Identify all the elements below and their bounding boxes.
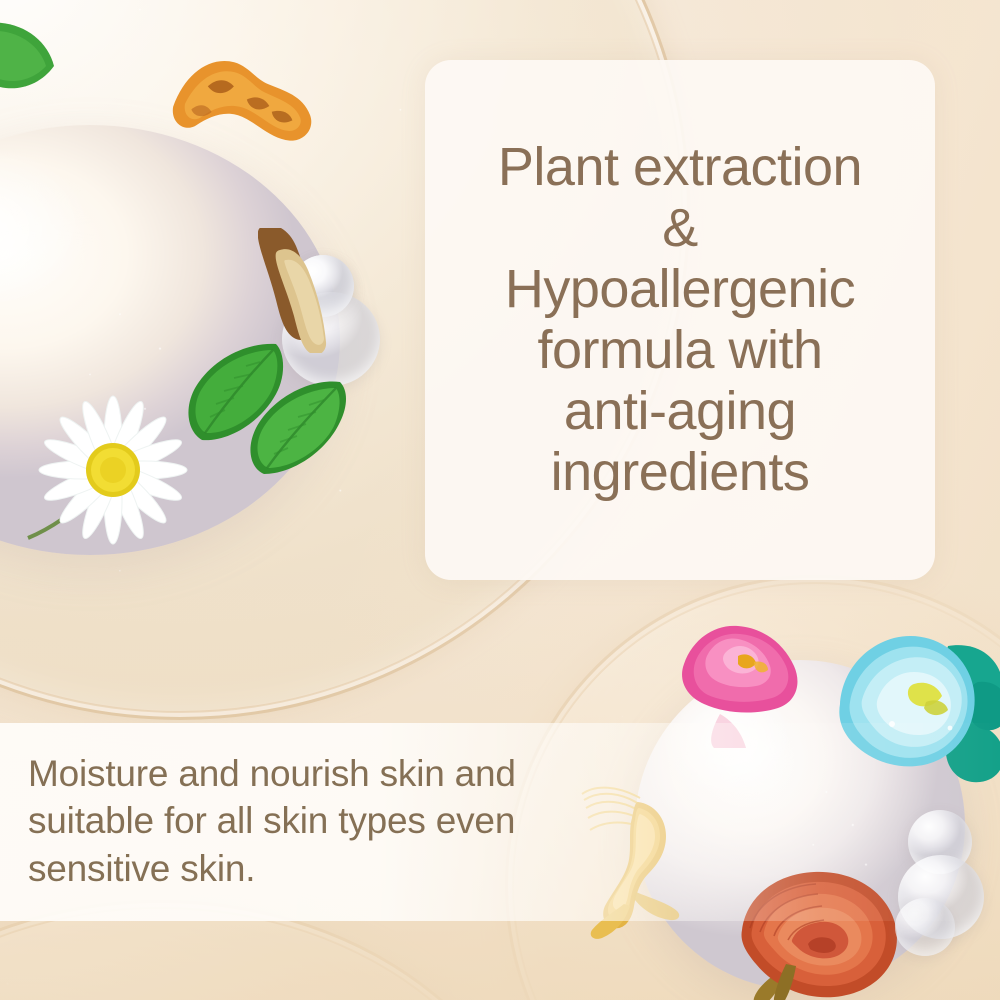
- headline-line-1: Plant extraction: [435, 137, 925, 198]
- caption-line-3: sensitive skin.: [28, 845, 628, 892]
- caption-line-1: Moisture and nourish skin and: [28, 750, 628, 797]
- headline-line-3: Hypoallergenic: [435, 259, 925, 320]
- skincare-ingredient-banner: Plant extraction & Hypoallergenic formul…: [0, 0, 1000, 1000]
- caption-line-2: suitable for all skin types even: [28, 797, 628, 844]
- headline-card: Plant extraction & Hypoallergenic formul…: [425, 60, 935, 580]
- mint-leaf-corner-icon: [0, 8, 82, 128]
- headline-line-4: formula with: [435, 320, 925, 381]
- headline-line-6: ingredients: [435, 442, 925, 503]
- turmeric-root-icon: [161, 37, 319, 167]
- caption-text: Moisture and nourish skin and suitable f…: [28, 750, 628, 892]
- page-title: Plant extraction & Hypoallergenic formul…: [425, 137, 935, 503]
- daisy-flower-icon: [18, 378, 208, 568]
- mint-leaf-two-icon: [236, 372, 354, 478]
- ginger-slice-icon: [258, 228, 378, 353]
- headline-line-2: &: [435, 198, 925, 259]
- headline-line-5: anti-aging: [435, 381, 925, 442]
